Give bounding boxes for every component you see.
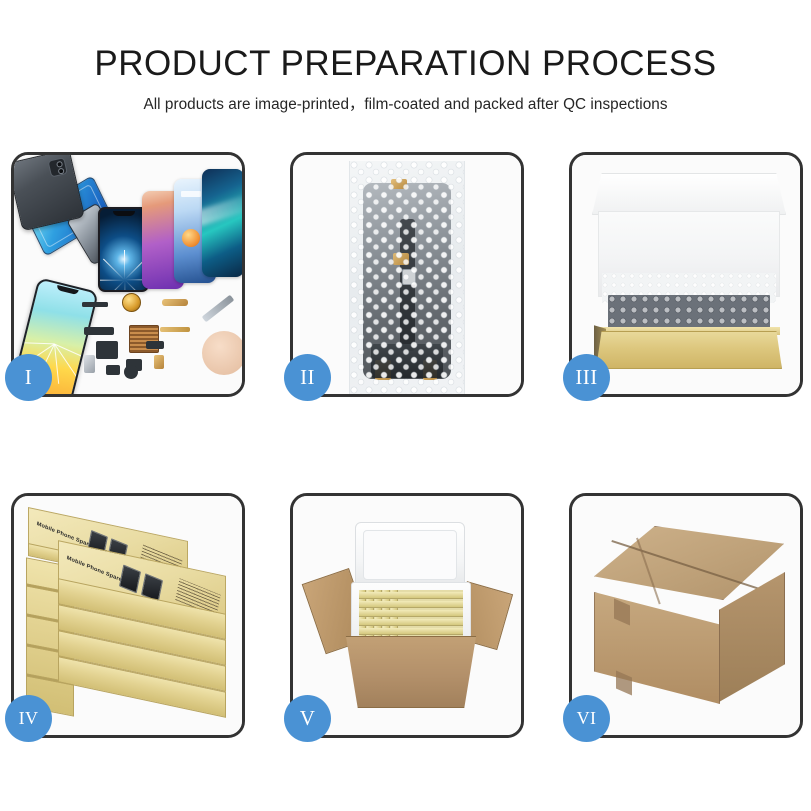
bubble-wrap-scene	[293, 155, 521, 394]
step-5-image	[293, 496, 521, 735]
process-step-3: III	[569, 152, 803, 397]
foam-lid	[355, 522, 465, 588]
step-badge-4: IV	[5, 695, 52, 742]
step-6-image	[572, 496, 800, 735]
flex-cable	[162, 299, 188, 306]
step-2-image	[293, 155, 521, 394]
screen-crack	[15, 342, 55, 345]
antenna-part	[146, 341, 164, 349]
gold-box-face	[359, 610, 463, 617]
step-4-image: Mobile Phone Spare Parts Mobile Phone Sp…	[14, 496, 242, 735]
step-badge-5: V	[284, 695, 331, 742]
bubble-wrap-bag	[349, 161, 465, 394]
wallpaper-ray	[124, 280, 125, 293]
carton-front-panel	[337, 636, 485, 708]
box-stack-scene: Mobile Phone Spare Parts Mobile Phone Sp…	[14, 496, 242, 735]
gold-box-face	[359, 619, 463, 626]
wallpaper-ray	[102, 258, 124, 280]
sim-tray	[84, 355, 95, 373]
speaker-coin-part	[122, 293, 141, 312]
process-step-5: V	[290, 493, 524, 738]
wallpaper-ray	[98, 279, 124, 280]
wallpaper-orb	[182, 229, 200, 247]
box-front-panel	[596, 331, 782, 369]
page-subtitle: All products are image-printed，film-coat…	[0, 92, 811, 114]
camera-flex	[96, 341, 118, 359]
step-3-image	[572, 155, 800, 394]
process-step-grid: I II	[11, 152, 801, 738]
teal-swirl-phone	[202, 169, 242, 277]
motor-disc	[124, 365, 138, 379]
process-step-2: II	[290, 152, 524, 397]
wallpaper-ray	[124, 250, 125, 280]
flex-cable	[160, 327, 190, 332]
spare-parts-scene	[14, 155, 242, 394]
step-badge-6: VI	[563, 695, 610, 742]
earpiece-mesh	[82, 302, 108, 307]
screw-set	[106, 365, 120, 375]
page-title: PRODUCT PREPARATION PROCESS	[0, 44, 811, 83]
step-badge-1: I	[5, 354, 52, 401]
phone-notch	[113, 211, 135, 216]
step-badge-2: II	[284, 354, 331, 401]
phone-notch	[56, 285, 79, 295]
connector-strip	[84, 327, 114, 335]
battery-connector	[154, 355, 164, 369]
carton-left-face	[594, 592, 720, 704]
sealed-carton-scene	[572, 496, 800, 735]
technician-hand	[202, 331, 242, 375]
process-step-4: Mobile Phone Spare Parts Mobile Phone Sp…	[11, 493, 245, 738]
open-mailer-scene	[572, 155, 800, 394]
step-badge-3: III	[563, 354, 610, 401]
process-step-1: I	[11, 152, 245, 397]
status-clock	[181, 191, 201, 197]
gold-box-face	[359, 592, 463, 599]
gold-box-face	[359, 628, 463, 635]
product-preparation-infographic: PRODUCT PREPARATION PROCESS All products…	[0, 0, 811, 811]
bubble-texture	[350, 161, 464, 394]
header: PRODUCT PREPARATION PROCESS All products…	[0, 44, 811, 114]
gold-box-face	[359, 601, 463, 608]
box-lid-back-flap	[592, 173, 786, 215]
box-product-photo	[119, 565, 141, 594]
repair-tweezers	[202, 295, 235, 323]
packed-gold-boxes	[359, 590, 463, 636]
step-1-image	[14, 155, 242, 394]
carton-loading-scene	[293, 496, 521, 735]
process-step-6: VI	[569, 493, 803, 738]
wallpaper-ray	[102, 279, 124, 292]
